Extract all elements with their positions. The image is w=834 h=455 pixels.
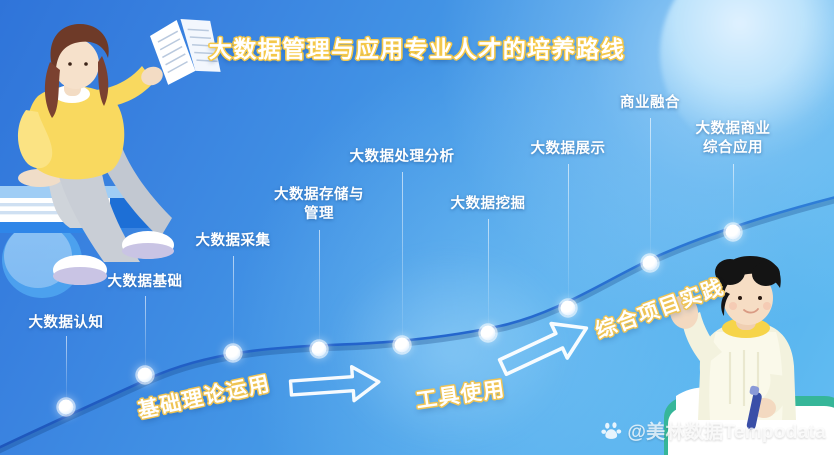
node-label-2: 大数据采集 [196,232,271,251]
watermark-text: @美林数据Tempodata [627,417,826,444]
leader-line [733,164,734,222]
milestone-dot-6[interactable] [561,301,576,316]
leader-line [66,336,67,398]
milestone-dot-3[interactable] [312,342,327,357]
node-label-3: 大数据存储与管理 [274,186,364,224]
leader-line [402,172,403,336]
node-label-1: 大数据基础 [108,273,183,292]
milestone-dot-5[interactable] [481,326,496,341]
milestone-dot-4[interactable] [395,338,410,353]
leader-line [233,256,234,344]
milestone-dot-2[interactable] [226,346,241,361]
leader-line [145,296,146,366]
page-title: 大数据管理与应用专业人才的培养路线 [0,30,834,64]
milestone-dot-0[interactable] [59,400,74,415]
watermark: @美林数据Tempodata [601,417,826,444]
node-label-7: 商业融合 [620,94,680,113]
node-label-8: 大数据商业综合应用 [696,120,771,158]
baidu-paw-icon [601,420,622,441]
progress-arrow-2 [495,311,594,384]
node-label-0: 大数据认知 [29,314,104,333]
leader-line [488,219,489,323]
leader-line [650,118,651,254]
milestone-dot-1[interactable] [138,368,153,383]
infographic-canvas: 大数据管理与应用专业人才的培养路线 大数据认知大数据基础大数据采集大数据存储与管… [0,0,834,455]
progress-arrow-1 [290,365,380,405]
milestone-dot-8[interactable] [726,225,741,240]
leader-line [568,164,569,298]
node-label-5: 大数据挖掘 [451,195,526,214]
leader-line [319,230,320,340]
node-label-6: 大数据展示 [531,140,606,159]
milestone-dot-7[interactable] [643,256,658,271]
node-label-4: 大数据处理分析 [350,148,455,167]
